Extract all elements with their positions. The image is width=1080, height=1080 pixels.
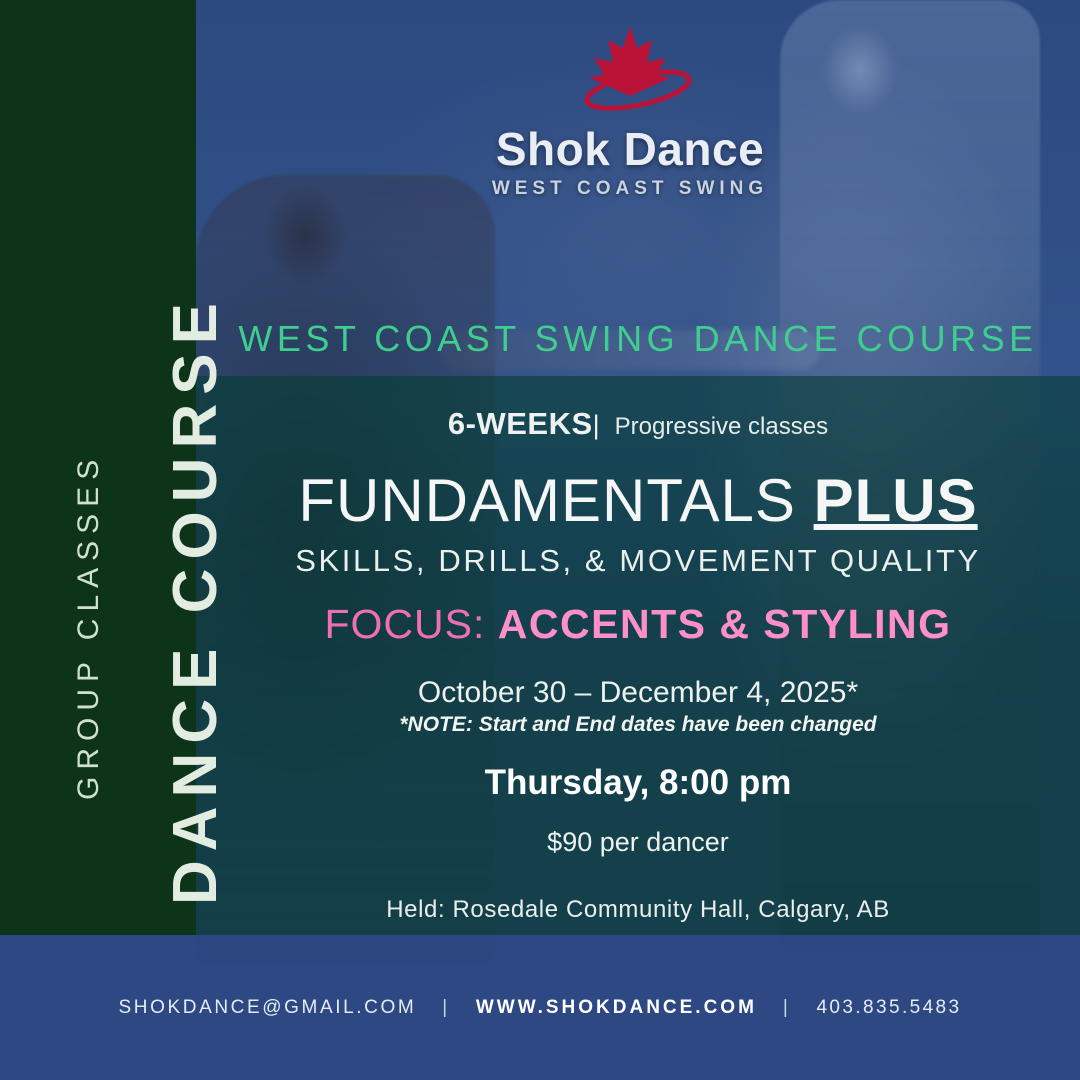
logo-tagline: WEST COAST SWING [430, 178, 830, 200]
duration-line: 6-WEEKS| Progressive classes [196, 406, 1080, 442]
headline-emphasis: PLUS [814, 467, 978, 534]
footer-phone[interactable]: 403.835.5483 [816, 997, 961, 1019]
duration-separator: | [593, 410, 600, 440]
focus-label: FOCUS: [324, 601, 485, 647]
footer-divider-1: | [442, 997, 450, 1019]
focus-value: ACCENTS & STYLING [498, 601, 952, 647]
brand-logo: Shok Dance WEST COAST SWING [430, 18, 830, 200]
footer: SHOKDANCE@GMAIL.COM | WWW.SHOKDANCE.COM … [0, 935, 1080, 1080]
class-format: Progressive classes [615, 413, 828, 440]
footer-email[interactable]: SHOKDANCE@GMAIL.COM [119, 997, 417, 1019]
day-time: Thursday, 8:00 pm [196, 763, 1080, 803]
focus-line: FOCUS: ACCENTS & STYLING [196, 601, 1080, 648]
footer-divider-2: | [783, 997, 791, 1019]
poster: DANCE COURSE GROUP CLASSES Shok Dance WE… [0, 0, 1080, 1080]
logo-name: Shok Dance [430, 122, 830, 176]
headline-main: FUNDAMENTALS [298, 467, 813, 534]
subheadline: SKILLS, DRILLS, & MOVEMENT QUALITY [196, 543, 1080, 579]
price: $90 per dancer [196, 827, 1080, 858]
course-dates: October 30 – December 4, 2025* [196, 676, 1080, 710]
dates-note: *NOTE: Start and End dates have been cha… [196, 713, 1080, 737]
footer-website[interactable]: WWW.SHOKDANCE.COM [476, 997, 757, 1019]
maple-leaf-icon [430, 18, 830, 128]
location: Held: Rosedale Community Hall, Calgary, … [196, 896, 1080, 924]
course-details: 6-WEEKS| Progressive classes FUNDAMENTAL… [196, 376, 1080, 935]
headline: FUNDAMENTALS PLUS [196, 466, 1080, 535]
duration-value: 6-WEEKS [448, 406, 593, 441]
side-subtitle: GROUP CLASSES [72, 453, 106, 800]
course-title: WEST COAST SWING DANCE COURSE [196, 318, 1080, 360]
